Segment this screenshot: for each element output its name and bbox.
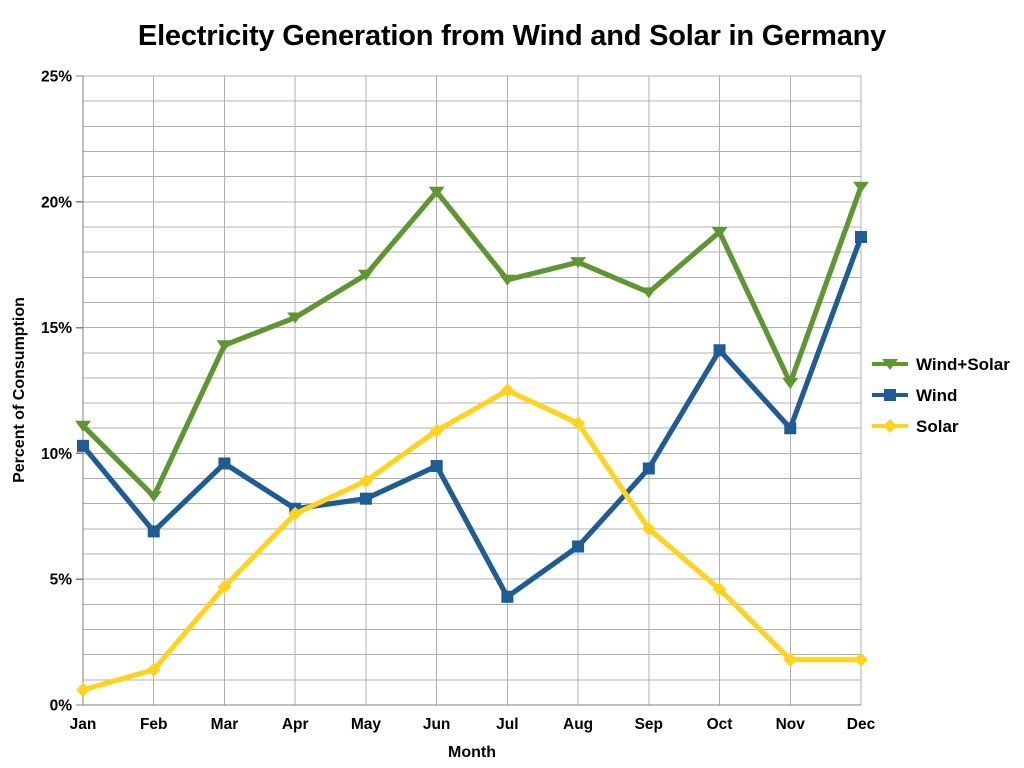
series-line: [83, 391, 861, 690]
data-point-marker: [643, 462, 655, 474]
series-wind: [77, 231, 867, 603]
x-axis-tick-label: Nov: [776, 716, 806, 733]
y-axis-tick-label: 15%: [41, 320, 72, 337]
x-axis-tick-label: Mar: [211, 716, 239, 733]
y-axis-tick-label: 10%: [41, 446, 72, 463]
x-axis-tick-labels: JanFebMarAprMayJunJulAugSepOctNovDec: [70, 716, 876, 733]
data-point-marker: [855, 231, 867, 243]
x-axis-tick-label: Feb: [140, 716, 168, 733]
chart-container: Electricity Generation from Wind and Sol…: [0, 0, 1024, 768]
x-axis-tick-label: Sep: [635, 716, 663, 733]
x-axis-tick-label: May: [351, 716, 382, 733]
series-line: [83, 187, 861, 496]
x-axis-tick-label: Aug: [563, 716, 593, 733]
data-point-marker: [572, 540, 584, 552]
chart-legend: Wind+SolarWindSolar: [872, 355, 1010, 436]
series-wind-solar: [75, 182, 869, 502]
y-axis-tick-label: 20%: [41, 194, 72, 211]
series-solar: [76, 384, 868, 697]
data-point-marker: [883, 419, 897, 433]
y-axis-tick-label: 0%: [50, 698, 73, 715]
data-point-marker: [714, 344, 726, 356]
data-point-marker: [76, 683, 90, 697]
data-point-marker: [782, 378, 798, 389]
data-point-marker: [784, 422, 796, 434]
data-point-marker: [77, 440, 89, 452]
x-axis-tick-label: Jul: [496, 716, 518, 733]
x-axis-title: Month: [448, 744, 496, 761]
data-point-marker: [360, 493, 372, 505]
legend-item-label: Wind: [916, 386, 957, 405]
data-point-marker: [218, 457, 230, 469]
data-point-marker: [431, 460, 443, 472]
series-line: [83, 237, 861, 597]
y-axis-tick-label: 25%: [41, 69, 72, 86]
y-axis-title: Percent of Consumption: [11, 297, 28, 483]
data-series-layer: [75, 182, 869, 697]
y-axis-tick-labels: 0%5%10%15%20%25%: [41, 69, 83, 715]
data-point-marker: [148, 525, 160, 537]
data-point-marker: [853, 182, 869, 193]
x-axis-tick-label: Dec: [847, 716, 876, 733]
legend-item-label: Wind+Solar: [916, 355, 1010, 374]
data-point-marker: [884, 389, 896, 401]
data-point-marker: [501, 591, 513, 603]
x-axis-tick-label: Jan: [70, 716, 97, 733]
data-point-marker: [641, 287, 657, 298]
data-point-marker: [146, 491, 162, 502]
x-axis-tick-label: Apr: [282, 716, 309, 733]
y-axis-tick-label: 5%: [50, 572, 73, 589]
legend-item-label: Solar: [916, 417, 959, 436]
chart-plot-area: 0%5%10%15%20%25% JanFebMarAprMayJunJulAu…: [0, 0, 1024, 768]
x-axis-tick-label: Oct: [707, 716, 733, 733]
x-axis-tick-label: Jun: [423, 716, 451, 733]
